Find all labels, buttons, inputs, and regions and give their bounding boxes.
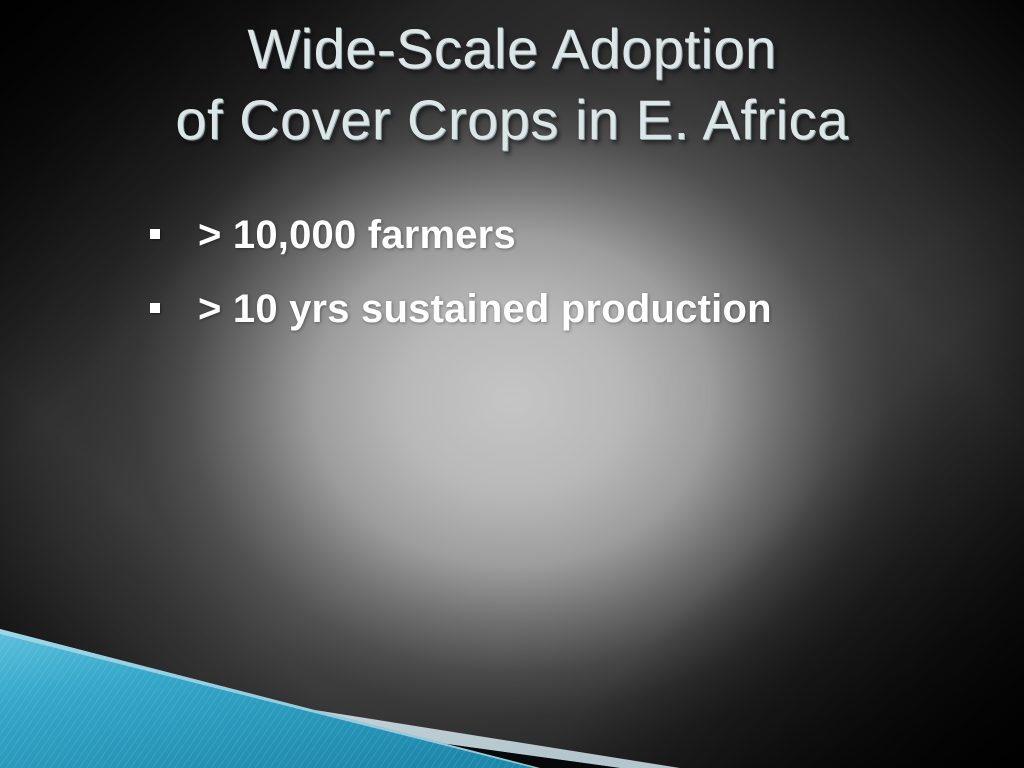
bullet-item-label: > 10 yrs sustained production [198, 286, 772, 332]
slide-title: Wide-Scale Adoption of Cover Crops in E.… [64, 14, 960, 155]
bullet-item-label: > 10,000 farmers [198, 212, 516, 258]
bullet-item: > 10 yrs sustained production [150, 286, 950, 332]
slide-title-line-2: of Cover Crops in E. Africa [64, 85, 960, 156]
slide-title-line-1: Wide-Scale Adoption [64, 14, 960, 85]
bullet-item: > 10,000 farmers [150, 212, 950, 258]
square-bullet-icon [150, 303, 160, 313]
slide-body: > 10,000 farmers > 10 yrs sustained prod… [150, 212, 950, 360]
presentation-slide: Wide-Scale Adoption of Cover Crops in E.… [0, 0, 1024, 768]
square-bullet-icon [150, 229, 160, 239]
